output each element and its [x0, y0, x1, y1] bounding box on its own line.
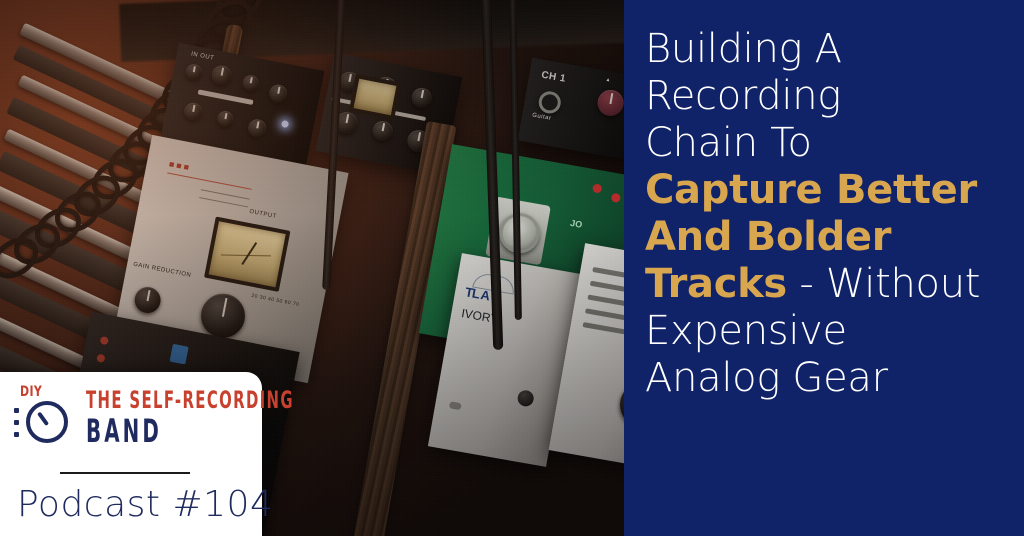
vent-slot — [590, 281, 624, 294]
guitar-label: Guitar — [532, 113, 552, 122]
diy-label: DIY — [20, 384, 42, 400]
title-highlight-3: Tracks — [645, 261, 787, 307]
panel-line — [199, 197, 248, 208]
title-line-analog: Analog Gear — [645, 355, 888, 401]
podcast-cover-image: IN OUT ■■■ 20 30 40 50 60 7 — [0, 0, 1024, 536]
brand-name-bottom: BAND — [86, 412, 162, 450]
indicator-led — [96, 354, 105, 363]
episode-title: Building ARecordingChain ToCapture Bette… — [645, 26, 1017, 402]
control-knob — [268, 83, 289, 104]
control-knob — [410, 86, 433, 109]
indicator-led — [100, 336, 109, 345]
control-knob — [247, 118, 268, 139]
vent-slot — [592, 267, 624, 280]
control-knob — [184, 63, 203, 82]
button-blue — [170, 344, 189, 365]
title-after-highlight: - Without — [787, 261, 980, 307]
vu-meter — [204, 217, 290, 292]
control-knob — [596, 88, 624, 118]
knob-dial-icon — [26, 401, 68, 443]
panel-label: OUTPUT — [249, 209, 277, 220]
panel-line — [167, 172, 252, 189]
control-knob — [216, 110, 235, 129]
knob-scale: 20 30 40 50 60 70 — [251, 293, 300, 308]
card-divider — [60, 472, 190, 474]
toggle-knob — [132, 285, 162, 315]
episode-number: Podcast #104 — [17, 484, 273, 525]
title-panel: Building ARecordingChain ToCapture Bette… — [624, 0, 1024, 536]
indicator-led — [516, 389, 535, 408]
indicator-led — [592, 183, 602, 193]
podcast-logo-card: DIY THE SELF-RECORDING BAND Podcast #104 — [0, 372, 262, 536]
status-led — [281, 120, 289, 128]
control-knob — [241, 74, 260, 93]
title-highlight-2: And Bolder — [645, 214, 891, 260]
brand-name-top: THE SELF-RECORDING — [86, 386, 294, 414]
panel-label: IN OUT — [191, 51, 215, 61]
control-knob — [371, 119, 394, 142]
pcb-silkscreen: JO — [569, 218, 583, 230]
title-line-1: Building A — [645, 26, 842, 72]
control-knob — [183, 101, 204, 122]
control-knob — [210, 64, 233, 87]
panel-slot — [198, 89, 254, 105]
panel-slot — [449, 401, 462, 410]
title-line-expensive: Expensive — [645, 308, 847, 354]
title-line-2: Recording — [645, 73, 841, 119]
jack-socket — [537, 90, 562, 115]
large-knob — [616, 378, 624, 431]
title-line-3: Chain To — [645, 120, 812, 166]
panel-label: GAIN REDUCTION — [133, 262, 192, 279]
panel-brand-label: ■■■ — [168, 159, 192, 173]
vent-slot — [585, 308, 624, 321]
panel-label: ▲ — [605, 77, 611, 84]
title-highlight-1: Capture Better — [645, 167, 977, 213]
indicator-led — [611, 193, 621, 203]
vent-slot — [583, 322, 624, 335]
ch1-label: CH 1 — [540, 70, 566, 85]
vent-slot — [587, 295, 624, 308]
brand-logo: DIY THE SELF-RECORDING BAND — [14, 384, 252, 454]
